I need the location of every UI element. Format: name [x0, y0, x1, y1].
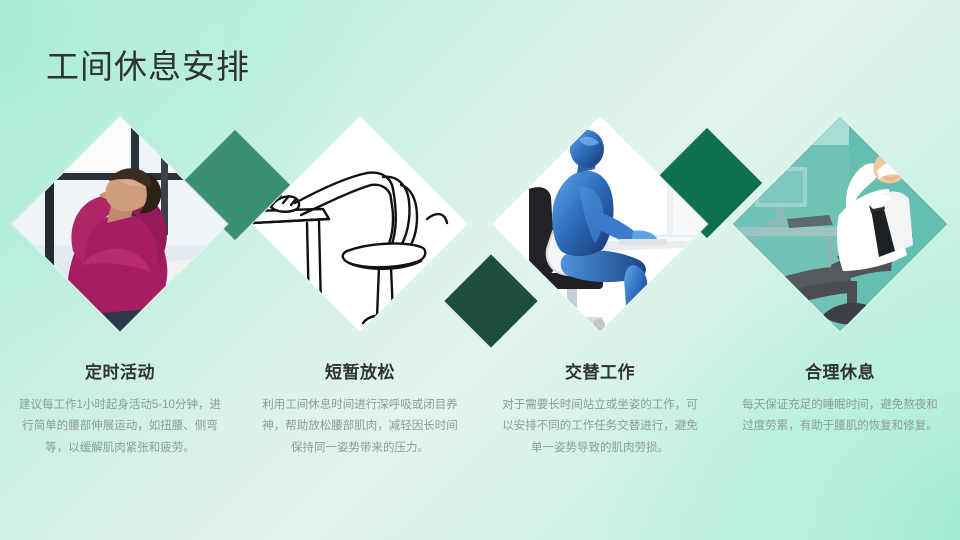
card-title: 定时活动	[85, 358, 155, 383]
diamond-photo	[493, 117, 708, 332]
seated-posture-figure-icon	[493, 117, 708, 332]
relaxing-businessman-icon	[733, 117, 948, 332]
card-body: 利用工间休息时间进行深呼吸或闭目养神，帮助放松腰部肌肉，减轻因长时间保持同一姿势…	[258, 395, 463, 459]
card-image-frame	[502, 140, 698, 336]
card-title: 合理休息	[805, 358, 875, 383]
card-item[interactable]: 交替工作 对于需要长时间站立或坐姿的工作，可以安排不同的工作任务交替进行，避免单…	[480, 140, 720, 459]
slide-canvas: 工间休息安排	[0, 0, 960, 540]
card-title: 交替工作	[565, 358, 635, 383]
card-body: 建议每工作1小时起身活动5-10分钟，进行简单的腰部伸展运动，如扭腰、侧弯等，以…	[18, 395, 223, 459]
card-item[interactable]: 合理休息 每天保证充足的睡眠时间，避免熬夜和过度劳累，有助于腰肌的恢复和修复。	[720, 140, 960, 459]
card-body: 对于需要长时间站立或坐姿的工作，可以安排不同的工作任务交替进行，避免单一姿势导致…	[498, 395, 703, 459]
card-title: 短暂放松	[325, 358, 395, 383]
card-item[interactable]: 定时活动 建议每工作1小时起身活动5-10分钟，进行简单的腰部伸展运动，如扭腰、…	[0, 140, 240, 459]
card-image-frame	[22, 140, 218, 336]
diamond-photo	[13, 117, 228, 332]
card-row: 定时活动 建议每工作1小时起身活动5-10分钟，进行简单的腰部伸展运动，如扭腰、…	[0, 140, 960, 459]
card-body: 每天保证充足的睡眠时间，避免熬夜和过度劳累，有助于腰肌的恢复和修复。	[738, 395, 943, 438]
woman-stretching-icon	[13, 117, 228, 332]
card-image-frame	[262, 140, 458, 336]
diamond-photo	[253, 117, 468, 332]
legs-on-desk-sketch-icon	[253, 117, 468, 332]
card-image-frame	[742, 140, 938, 336]
page-title: 工间休息安排	[46, 40, 250, 88]
card-item[interactable]: 短暂放松 利用工间休息时间进行深呼吸或闭目养神，帮助放松腰部肌肉，减轻因长时间保…	[240, 140, 480, 459]
diamond-photo	[733, 117, 948, 332]
